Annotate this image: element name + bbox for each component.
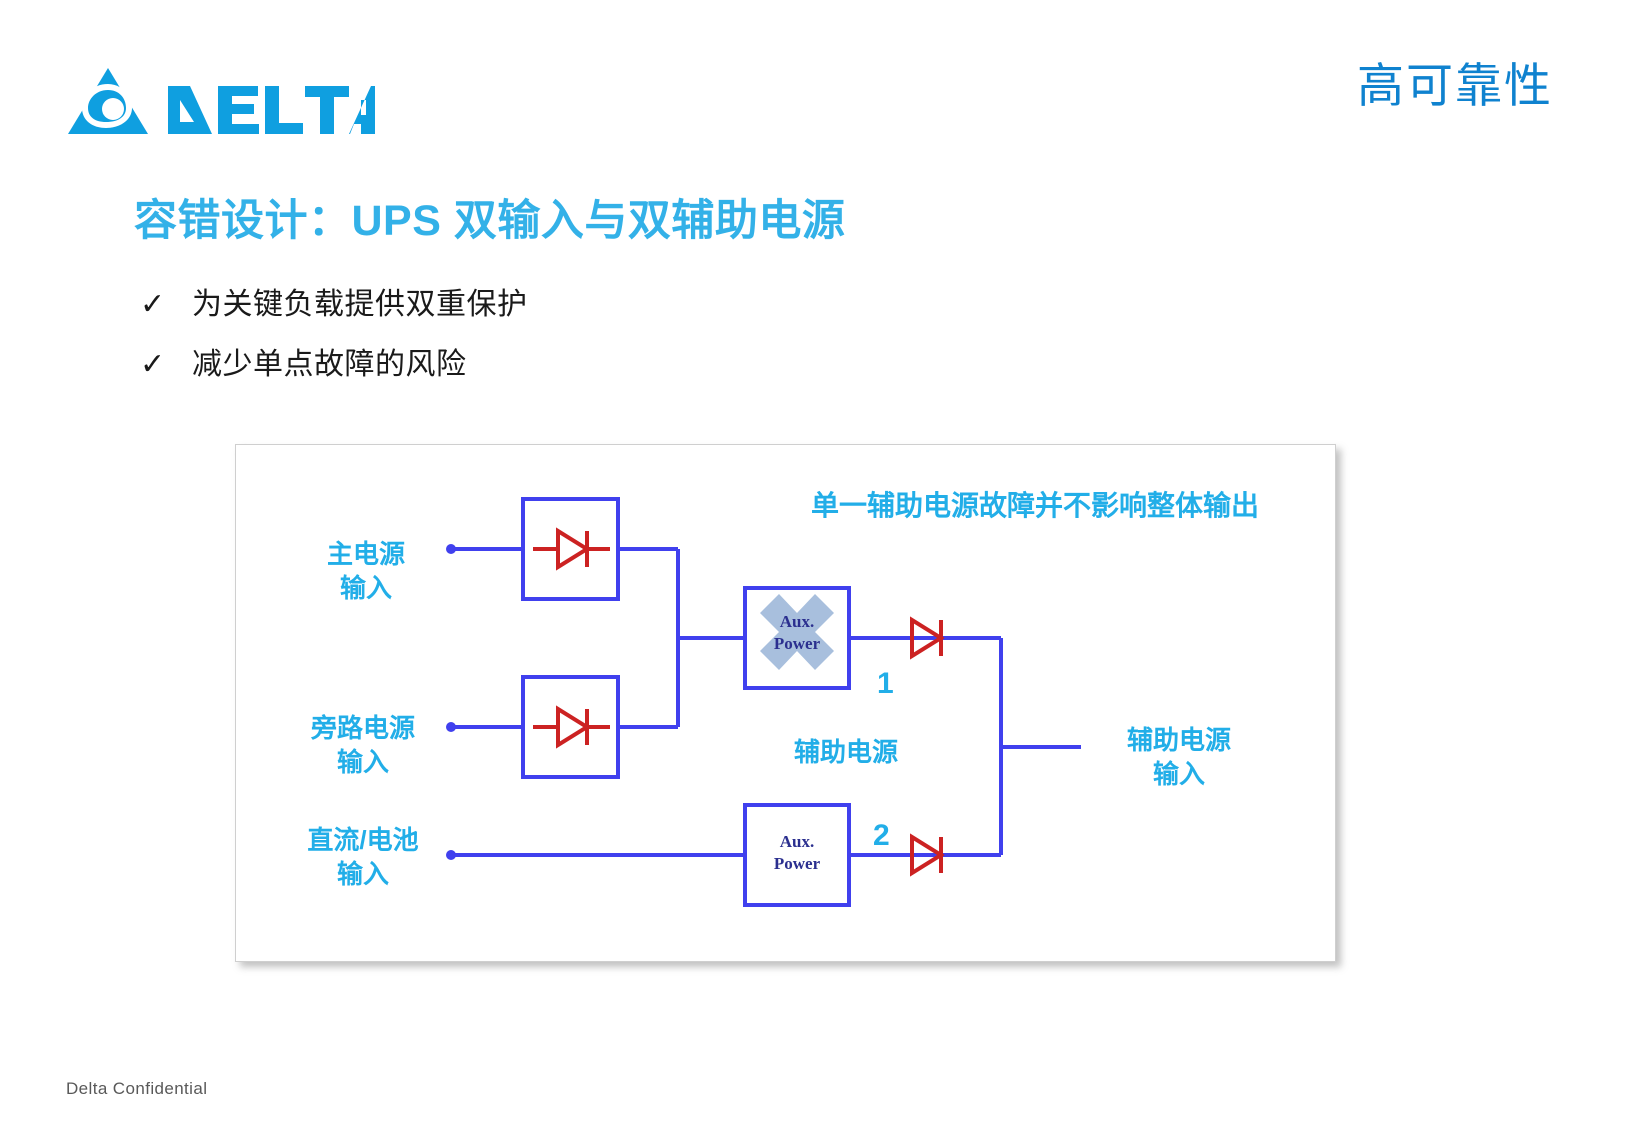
delta-logo xyxy=(62,62,382,142)
slide-title: 容错设计：UPS 双输入与双辅助电源 xyxy=(134,186,845,248)
label-aux-power-output: 辅助电源 输入 xyxy=(1074,723,1284,791)
check-icon: ✓ xyxy=(140,283,192,327)
list-item: ✓ 为关键负载提供双重保护 xyxy=(140,283,940,327)
diode-number-2: 2 xyxy=(873,819,890,853)
label-dc-battery-input: 直流/电池 输入 xyxy=(248,823,478,891)
aux-power-box-2 xyxy=(745,805,849,905)
annotation-single-aux-failure: 单一辅助电源故障并不影响整体输出 xyxy=(811,487,1296,525)
label-aux-power-center: 辅助电源 xyxy=(736,735,956,769)
circuit-diagram-panel: 主电源 输入 旁路电源 输入 直流/电池 输入 辅助电源 输入 辅助电源 单一辅… xyxy=(235,444,1336,962)
bullet-list: ✓ 为关键负载提供双重保护 ✓ 减少单点故障的风险 xyxy=(140,283,940,403)
list-item-label: 减少单点故障的风险 xyxy=(192,343,467,387)
page-title-header: 高可靠性 xyxy=(1357,62,1553,109)
delta-logo-triangle-icon xyxy=(68,68,148,134)
diode-number-1: 1 xyxy=(877,667,894,701)
check-icon: ✓ xyxy=(140,343,192,387)
list-item-label: 为关键负载提供双重保护 xyxy=(192,283,528,327)
label-main-power-input: 主电源 输入 xyxy=(276,537,456,605)
footer-confidential-note: Delta Confidential xyxy=(66,1079,207,1099)
label-bypass-power-input: 旁路电源 输入 xyxy=(258,711,468,779)
list-item: ✓ 减少单点故障的风险 xyxy=(140,343,940,387)
delta-logo-wordmark xyxy=(168,86,375,134)
